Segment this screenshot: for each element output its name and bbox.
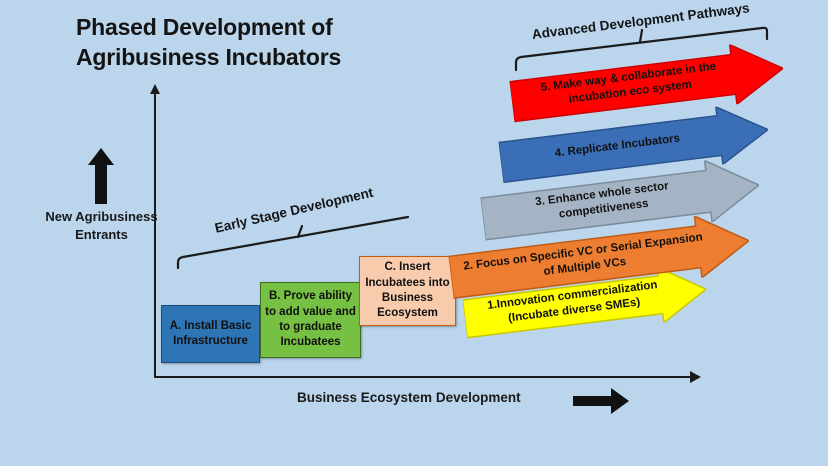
stage-box-c-label: C. Insert Incubatees into Business Ecosy… [363,260,452,322]
x-axis-line [154,376,692,378]
page-title: Phased Development of Agribusiness Incub… [76,12,406,73]
y-axis-label: New Agribusiness Entrants [44,208,159,243]
stage-box-a[interactable]: A. Install Basic Infrastructure [161,305,260,363]
stage-box-b-label: B. Prove ability to add value and to gra… [264,289,357,351]
up-arrow-icon [88,148,114,204]
stage-box-b[interactable]: B. Prove ability to add value and to gra… [260,282,361,358]
slide-canvas: Phased Development of Agribusiness Incub… [0,0,828,466]
x-axis-arrowhead-icon [690,371,701,383]
stage-box-a-label: A. Install Basic Infrastructure [165,319,256,350]
right-arrow-icon [573,388,629,414]
stage-box-c[interactable]: C. Insert Incubatees into Business Ecosy… [359,256,456,326]
x-axis-label: Business Ecosystem Development [297,390,521,405]
y-axis-arrowhead-icon [150,84,160,94]
